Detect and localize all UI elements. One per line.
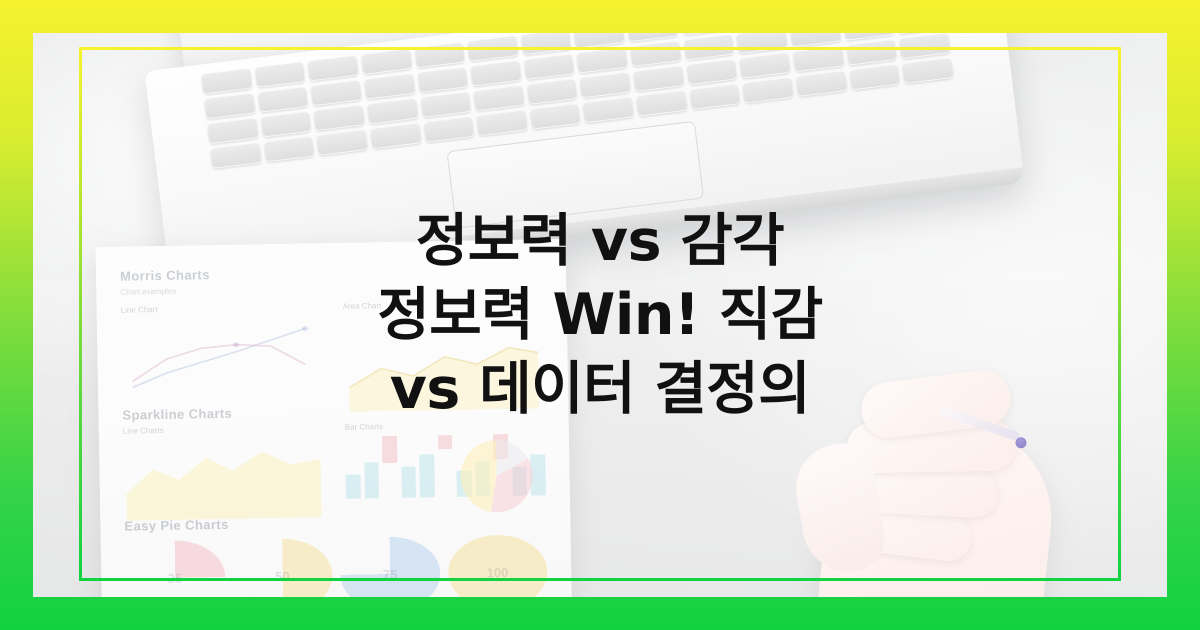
donut-chart: 75 xyxy=(340,536,441,597)
keyboard-key xyxy=(843,33,894,41)
panel-caption: Line Charts xyxy=(123,423,323,435)
donut-chart: 25 xyxy=(125,540,226,597)
panel-caption: Line Chart xyxy=(121,302,321,314)
keyboard-key xyxy=(580,73,631,99)
keyboard-key xyxy=(630,41,681,67)
report-section-heading-morris: Morris Charts xyxy=(120,261,542,283)
pie-chart-wrap xyxy=(441,435,552,517)
line-chart xyxy=(121,316,322,393)
keyboard-key xyxy=(684,35,735,61)
panel-caption: Bar Charts xyxy=(345,419,545,431)
report-panel-line-chart: Line Chart xyxy=(121,302,323,393)
keyboard-key xyxy=(258,87,309,113)
keyboard-key xyxy=(577,48,628,74)
pie-chart xyxy=(460,440,533,513)
donut-value: 75 xyxy=(383,566,398,581)
keyboard-key xyxy=(900,33,951,59)
area-chart-svg xyxy=(343,312,545,414)
keyboard-key xyxy=(793,46,844,72)
donut-value: 25 xyxy=(168,570,183,585)
keyboard-key xyxy=(740,53,791,79)
panel-caption: Area Chart xyxy=(343,298,543,310)
keyboard-key xyxy=(204,93,255,119)
keyboard-key xyxy=(527,79,578,105)
report-panel-sparkline-line: Line Charts xyxy=(123,423,324,502)
keyboard-key xyxy=(261,112,312,138)
report-section-subtitle-morris: Chart examples xyxy=(120,280,542,296)
keyboard-key xyxy=(627,33,678,42)
keyboard-key xyxy=(521,33,572,55)
report-row-morris: Line Chart Area Chart xyxy=(121,298,544,393)
keyboard-key xyxy=(846,40,897,66)
keyboard-key xyxy=(474,86,525,112)
line-chart-svg xyxy=(121,316,322,393)
keyboard-key xyxy=(417,67,468,93)
keyboard-key xyxy=(524,54,575,80)
easy-pie-donut-row: 25 50 75 100 xyxy=(125,534,548,597)
background-photo: Morris Charts Chart examples Line Chart xyxy=(33,33,1167,597)
area-chart xyxy=(343,312,544,389)
keyboard-key xyxy=(311,80,362,106)
keyboard-key xyxy=(207,118,258,144)
donut-chart: 100 xyxy=(447,534,548,597)
donut-chart: 50 xyxy=(232,538,333,597)
keyboard-key xyxy=(633,66,684,92)
keyboard-key xyxy=(364,74,415,100)
printed-analytics-report: Morris Charts Chart examples Line Chart xyxy=(96,239,573,597)
keyboard-key xyxy=(737,33,788,54)
hand-holding-pen xyxy=(794,357,1080,597)
keyboard-key xyxy=(420,92,471,118)
donut-value: 50 xyxy=(275,568,290,583)
keyboard-key xyxy=(687,59,738,85)
sparkline-area-svg xyxy=(123,437,324,523)
keyboard-key xyxy=(790,33,841,47)
keyboard-key xyxy=(367,99,418,125)
keyboard-key xyxy=(574,33,625,49)
thumbnail-card: Morris Charts Chart examples Line Chart xyxy=(0,0,1200,630)
sparkline-area xyxy=(123,437,324,502)
keyboard-key xyxy=(314,105,365,131)
donut-value: 100 xyxy=(487,564,509,579)
keyboard-key xyxy=(471,61,522,87)
report-panel-area-chart: Area Chart xyxy=(343,298,545,389)
